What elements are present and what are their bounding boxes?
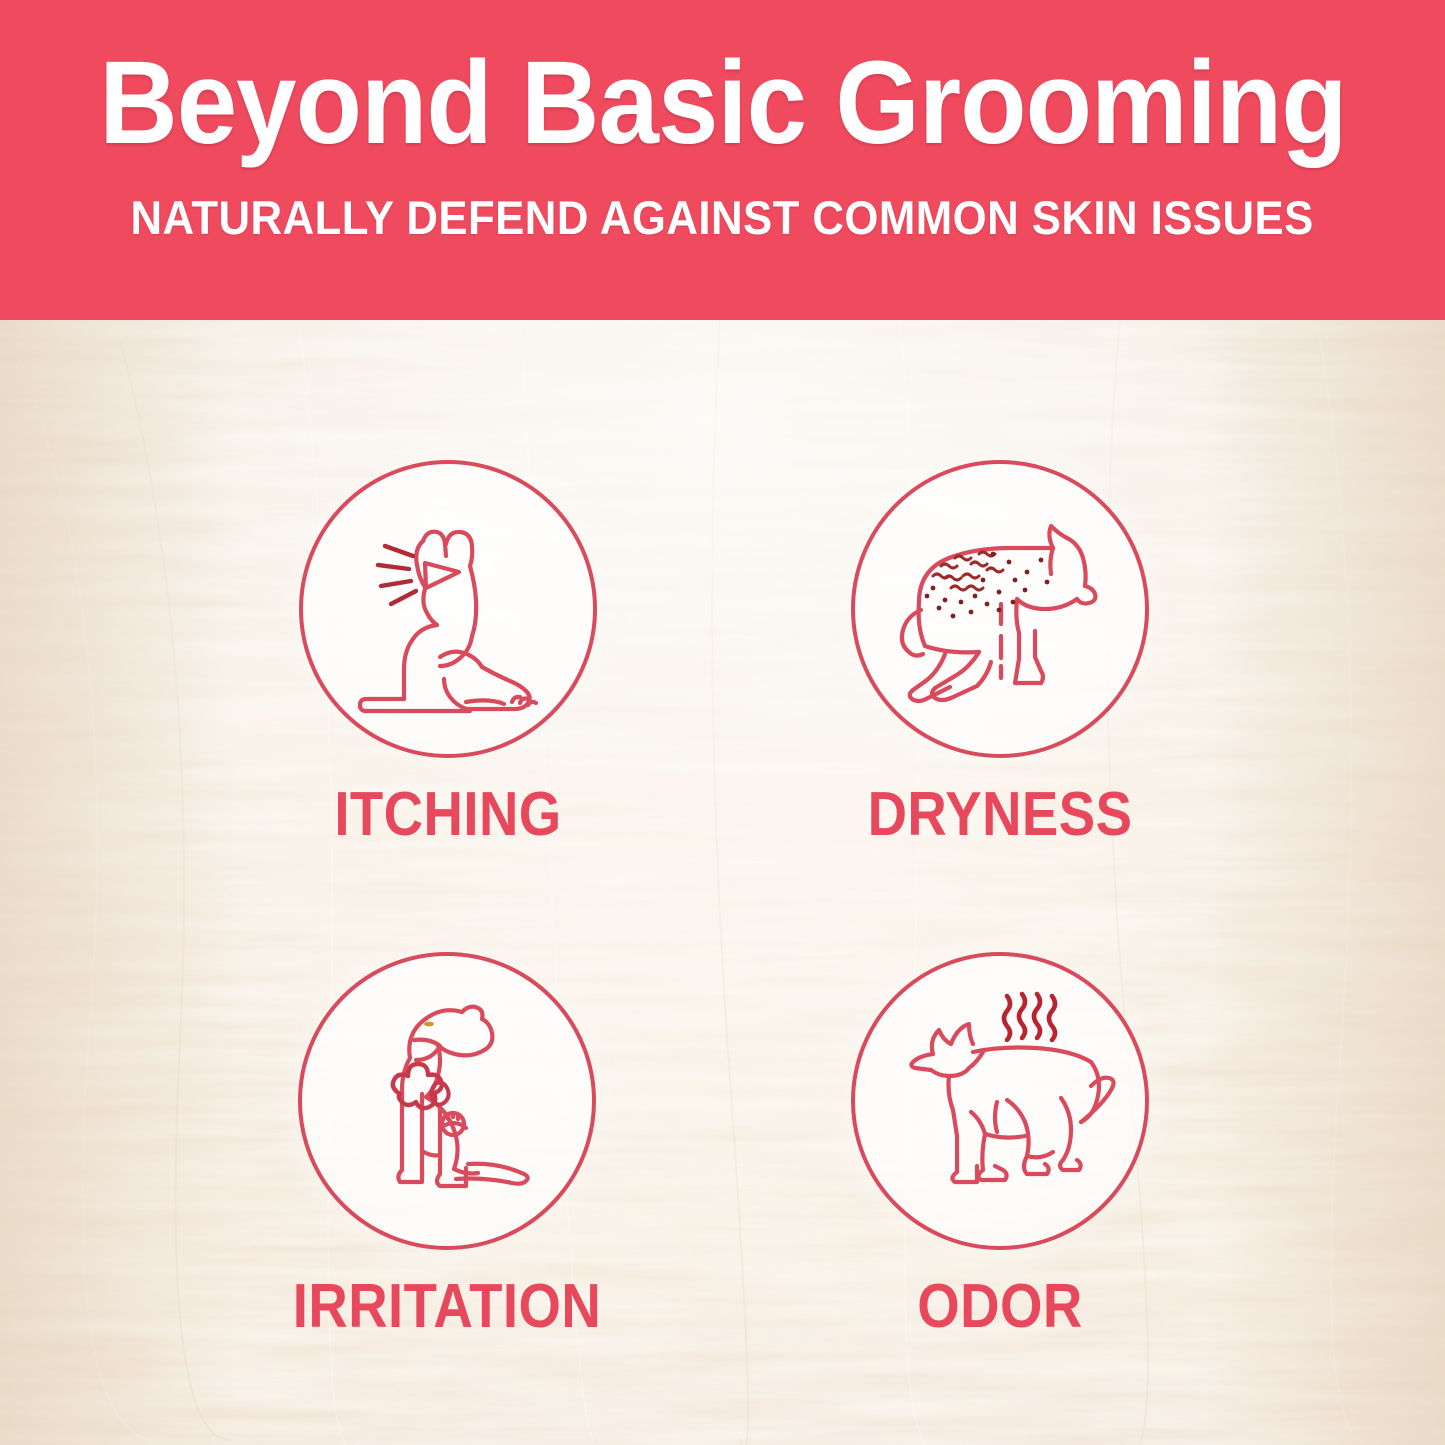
dog-scratching-icon bbox=[323, 484, 573, 734]
feature-dryness[interactable]: DRYNESS bbox=[780, 460, 1220, 846]
dog-rash-patch-icon bbox=[322, 976, 572, 1226]
dog-stink-lines-icon bbox=[875, 976, 1125, 1226]
feature-label: ITCHING bbox=[254, 784, 641, 846]
feature-label: IRRITATION bbox=[253, 1276, 640, 1338]
feature-label: DRYNESS bbox=[806, 784, 1193, 846]
feature-irritation[interactable]: IRRITATION bbox=[227, 952, 667, 1338]
feature-grid: ITCHING bbox=[0, 320, 1445, 1445]
feature-odor[interactable]: ODOR bbox=[780, 952, 1220, 1338]
feature-itching[interactable]: ITCHING bbox=[228, 460, 668, 846]
page-title: Beyond Basic Grooming bbox=[99, 44, 1346, 162]
feature-label: ODOR bbox=[806, 1276, 1193, 1338]
page-subtitle: NATURALLY DEFEND AGAINST COMMON SKIN ISS… bbox=[131, 190, 1314, 245]
poster-root: Beyond Basic Grooming NATURALLY DEFEND A… bbox=[0, 0, 1445, 1445]
feature-icon-disc bbox=[299, 460, 597, 758]
feature-icon-disc bbox=[851, 460, 1149, 758]
header-band: Beyond Basic Grooming NATURALLY DEFEND A… bbox=[0, 0, 1445, 320]
feature-icon-disc bbox=[851, 952, 1149, 1250]
dog-flaky-skin-icon bbox=[875, 484, 1125, 734]
feature-icon-disc bbox=[298, 952, 596, 1250]
